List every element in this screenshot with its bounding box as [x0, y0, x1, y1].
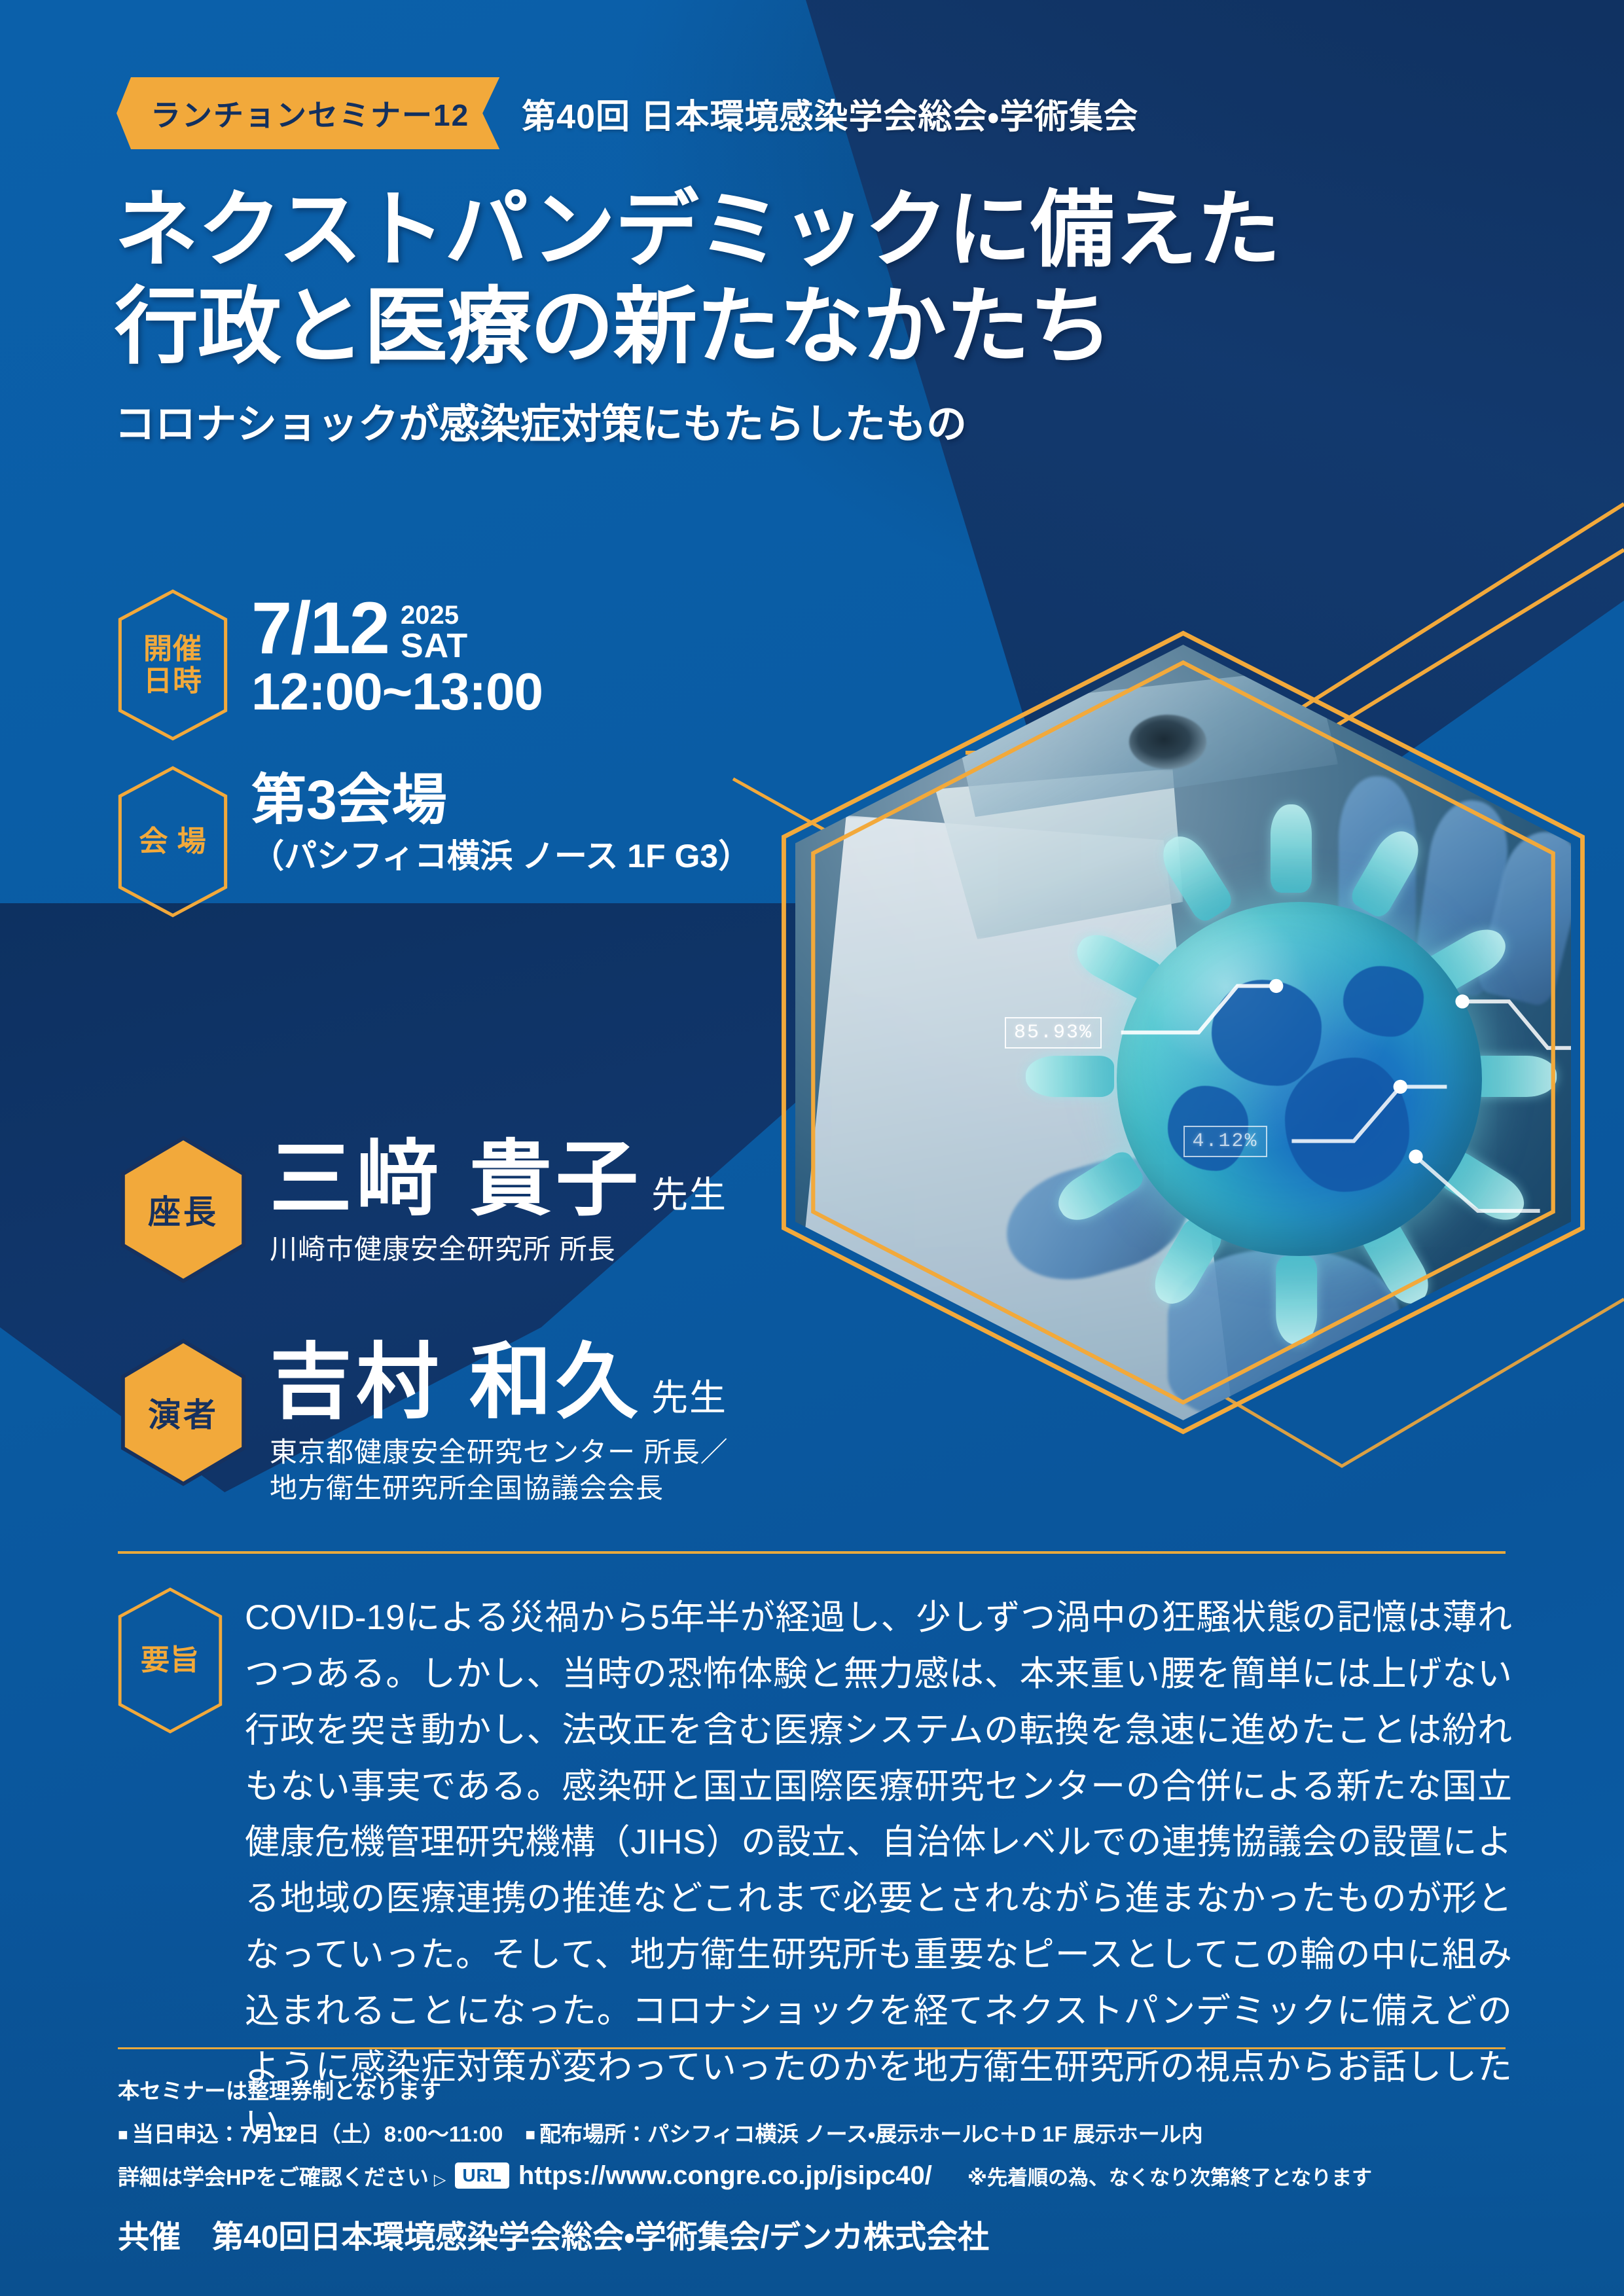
abstract-badge-label: 要旨: [141, 1644, 200, 1676]
conference-title: 第40回 日本環境感染学会総会・学術集会: [522, 89, 1138, 138]
chair-name-line: 三﨑 貴子 先生: [270, 1138, 727, 1221]
footer-application: 当日申込：7月12日（土）8:00～11:00: [118, 2117, 503, 2148]
datetime-body: 7/12 2025 SAT 12:00~13:00: [251, 589, 543, 721]
scientist-eye: [1129, 715, 1207, 769]
virus-spike: [1026, 1056, 1114, 1097]
landmass: [1343, 966, 1424, 1037]
datetime-badge-line1: 開催: [143, 633, 202, 665]
footer-logistics-line: 当日申込：7月12日（土）8:00～11:00 配布場所：パシフィコ横浜 ノース…: [118, 2117, 1512, 2148]
presenter-honorific: 先生: [651, 1369, 727, 1422]
abstract-hex-badge: 要旨: [118, 1587, 223, 1734]
chair-role-badge: 座長: [119, 1136, 247, 1283]
title-line-2: 行政と医療の新たなかたち: [115, 279, 1280, 376]
landmass: [1212, 980, 1322, 1086]
virus-globe-hologram: [1059, 846, 1540, 1312]
hero-image-content: 85.93% 4.12%: [795, 645, 1571, 1420]
venue-name: 第3会場: [251, 770, 751, 830]
virus-spike: [1276, 1256, 1317, 1344]
event-date: 7/12: [251, 593, 389, 664]
date-sub: 2025 SAT: [401, 593, 468, 664]
venue-detail: （パシフィコ横浜 ノース 1F G3）: [251, 835, 751, 878]
hud-percentage-label: 85.93%: [1005, 1017, 1102, 1049]
seminar-number-badge: ランチョンセミナー12: [117, 77, 499, 149]
chair-body: 三﨑 貴子 先生 川崎市健康安全研究所 所長: [270, 1136, 727, 1267]
url-chip-icon: URL: [455, 2162, 509, 2189]
title-subtitle: コロナショックが感染症対策にもたらしたもの: [115, 391, 1280, 450]
footer-caveat: ※先着順の為、なくなり次第終了となります: [967, 2161, 1372, 2191]
title-line-1: ネクストパンデミックに備えた: [115, 182, 1280, 279]
virus-spike: [1154, 828, 1236, 925]
event-year: 2025: [401, 602, 468, 628]
presenter-name-line: 吉村 和久 先生: [270, 1341, 729, 1424]
speaker-row-chair: 座長 三﨑 貴子 先生 川崎市健康安全研究所 所長: [119, 1136, 905, 1283]
event-time: 12:00~13:00: [251, 663, 543, 721]
speakers-block: 座長 三﨑 貴子 先生 川崎市健康安全研究所 所長 演者 吉村 和久: [119, 1136, 905, 1507]
event-info-block: 開催 日時 7/12 2025 SAT 12:00~13:00: [118, 589, 871, 918]
event-datetime-row: 開催 日時 7/12 2025 SAT 12:00~13:00: [118, 589, 871, 741]
footer-sponsor: 共催 第40回日本環境感染学会総会・学術集会/デンカ株式会社: [118, 2211, 989, 2257]
abstract-text: COVID-19による災禍から5年半が経過し、少しずつ渦中の狂騒状態の記憶は薄れ…: [245, 1587, 1512, 2152]
venue-badge-label: 会 場: [139, 825, 206, 857]
datetime-badge-line2: 日時: [143, 665, 202, 697]
presenter-body: 吉村 和久 先生 東京都健康安全研究センター 所長／ 地方衛生研究所全国協議会会…: [270, 1338, 729, 1507]
speaker-row-presenter: 演者 吉村 和久 先生 東京都健康安全研究センター 所長／ 地方衛生研究所全国協…: [119, 1338, 905, 1507]
earth-globe: [1117, 902, 1482, 1255]
virus-spike: [1271, 804, 1312, 893]
presenter-name: 吉村 和久: [270, 1341, 642, 1424]
footer-block: 本セミナーは整理券制となります 当日申込：7月12日（土）8:00～11:00 …: [118, 2073, 1512, 2191]
datetime-hex-badge: 開催 日時: [118, 589, 228, 741]
landmass: [1285, 1058, 1409, 1192]
hud-percentage-label: 4.12%: [1183, 1126, 1267, 1157]
abstract-block: 要旨 COVID-19による災禍から5年半が経過し、少しずつ渦中の狂騒状態の記憶…: [118, 1587, 1512, 2152]
date-main: 7/12 2025 SAT: [251, 593, 543, 664]
datetime-badge-label: 開催 日時: [143, 633, 202, 698]
chair-name: 三﨑 貴子: [270, 1138, 642, 1221]
main-title-block: ネクストパンデミックに備えた 行政と医療の新たなかたち コロナショックが感染症対…: [115, 182, 1280, 450]
presenter-role-badge: 演者: [119, 1338, 247, 1486]
venue-hex-badge: 会 場: [118, 766, 228, 918]
chair-affiliation: 川崎市健康安全研究所 所長: [270, 1231, 727, 1267]
presenter-affiliation: 東京都健康安全研究センター 所長／ 地方衛生研究所全国協議会会長: [270, 1434, 729, 1507]
footer-note: 本セミナーは整理券制となります: [118, 2073, 1512, 2105]
footer-url-row: 詳細は学会HPをご確認ください URL https://www.congre.c…: [118, 2160, 1512, 2191]
presenter-role-label: 演者: [148, 1389, 219, 1436]
abstract-divider-rule: [118, 1551, 1506, 1554]
footer-divider-rule: [118, 2047, 1506, 2049]
poster-canvas: ランチョンセミナー12 第40回 日本環境感染学会総会・学術集会 ネクストパンデ…: [0, 0, 1624, 2296]
footer-url-link[interactable]: https://www.congre.co.jp/jsipc40/: [518, 2161, 932, 2191]
chair-role-label: 座長: [148, 1186, 219, 1233]
poster-header: ランチョンセミナー12 第40回 日本環境感染学会総会・学術集会: [117, 77, 1138, 149]
footer-distribution: 配布場所：パシフィコ横浜 ノース・展示ホールC＋D 1F 展示ホール内: [525, 2117, 1202, 2148]
footer-details-prompt: 詳細は学会HPをご確認ください: [118, 2160, 446, 2191]
event-day-of-week: SAT: [401, 628, 468, 664]
chair-honorific: 先生: [651, 1166, 727, 1219]
event-venue-row: 会 場 第3会場 （パシフィコ横浜 ノース 1F G3）: [118, 766, 871, 918]
virus-spike: [1051, 1147, 1147, 1229]
venue-body: 第3会場 （パシフィコ横浜 ノース 1F G3）: [251, 766, 751, 878]
